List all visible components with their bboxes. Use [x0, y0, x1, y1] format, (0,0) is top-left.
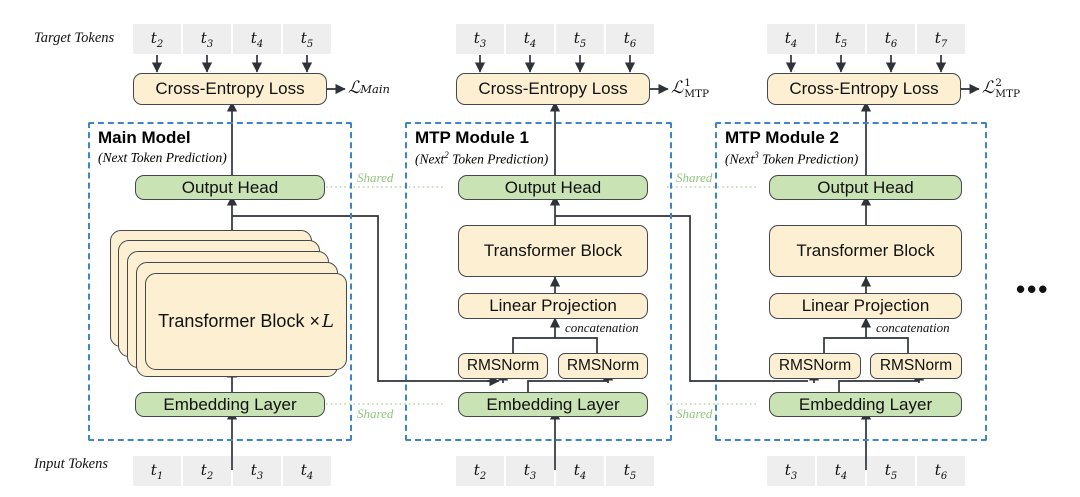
rmsnorm-right-mtp2: RMSNorm [870, 353, 962, 379]
module-subtitle-mtp2: (Next3 Token Prediction) [725, 150, 858, 168]
module-title-mtp1: MTP Module 1 [415, 128, 529, 148]
module-subtitle-mtp1: (Next2 Token Prediction) [415, 150, 548, 168]
shared-label-embedding-1: Shared [357, 406, 393, 422]
output-head-main: Output Head [135, 175, 325, 200]
target-token-chip: t3 [183, 24, 231, 54]
linear-projection-mtp1: Linear Projection [458, 293, 648, 319]
target-token-chip: t5 [556, 24, 604, 54]
diagram-canvas: Target Tokens Input Tokens t2 t3 t4 t5 t… [0, 0, 1080, 497]
input-token-chip: t2 [456, 456, 504, 486]
input-token-chip: t3 [506, 456, 554, 486]
cross-entropy-loss-box-mtp1: Cross-Entropy Loss [456, 73, 650, 105]
input-token-chip: t6 [917, 456, 965, 486]
transformer-stack-main: Transformer Block × L [110, 230, 345, 370]
loss-symbol-mtp1: ℒ1MTP [671, 78, 709, 99]
target-token-chip: t4 [233, 24, 281, 54]
transformer-block-main: Transformer Block × L [145, 273, 347, 370]
loss-symbol-main: ℒMain [348, 78, 390, 98]
embedding-layer-mtp1: Embedding Layer [458, 392, 648, 417]
input-token-chip: t3 [767, 456, 815, 486]
target-token-chip: t4 [506, 24, 554, 54]
linear-projection-mtp2: Linear Projection [769, 293, 962, 319]
target-token-chip: t5 [283, 24, 331, 54]
continuation-ellipsis: ••• [1016, 276, 1049, 302]
cross-entropy-loss-box-main: Cross-Entropy Loss [133, 73, 327, 105]
rmsnorm-left-mtp1: RMSNorm [458, 353, 548, 379]
embedding-layer-mtp2: Embedding Layer [769, 392, 962, 417]
transformer-block-mtp1: Transformer Block [458, 225, 648, 277]
input-token-chip: t4 [556, 456, 604, 486]
target-token-chip: t5 [817, 24, 865, 54]
target-token-chip: t6 [606, 24, 654, 54]
input-tokens-row-label: Input Tokens [34, 456, 108, 473]
input-token-chip: t4 [283, 456, 331, 486]
target-token-chip: t4 [767, 24, 815, 54]
module-subtitle-main: (Next Token Prediction) [98, 150, 227, 166]
input-token-chip: t3 [233, 456, 281, 486]
input-token-chip: t5 [606, 456, 654, 486]
target-token-chip: t2 [133, 24, 181, 54]
input-token-chip: t1 [133, 456, 181, 486]
input-token-chip: t5 [867, 456, 915, 486]
target-tokens-row-label: Target Tokens [34, 30, 114, 47]
module-title-main: Main Model [98, 128, 191, 148]
transformer-block-mtp2: Transformer Block [769, 225, 962, 277]
module-title-mtp2: MTP Module 2 [725, 128, 839, 148]
target-token-chip: t6 [867, 24, 915, 54]
embedding-layer-main: Embedding Layer [135, 392, 325, 417]
loss-symbol-mtp2: ℒ2MTP [982, 78, 1020, 99]
rmsnorm-right-mtp1: RMSNorm [558, 353, 648, 379]
target-token-chip: t7 [917, 24, 965, 54]
input-token-chip: t2 [183, 456, 231, 486]
rmsnorm-left-mtp2: RMSNorm [769, 353, 861, 379]
cross-entropy-loss-box-mtp2: Cross-Entropy Loss [767, 73, 961, 105]
target-token-chip: t3 [456, 24, 504, 54]
concatenation-label-mtp2: concatenation [876, 320, 950, 336]
concatenation-label-mtp1: concatenation [565, 320, 639, 336]
input-token-chip: t4 [817, 456, 865, 486]
shared-label-embedding-2: Shared [676, 406, 712, 422]
shared-label-output-head-1: Shared [357, 170, 393, 186]
shared-label-output-head-2: Shared [676, 170, 712, 186]
output-head-mtp2: Output Head [769, 175, 962, 200]
output-head-mtp1: Output Head [458, 175, 648, 200]
